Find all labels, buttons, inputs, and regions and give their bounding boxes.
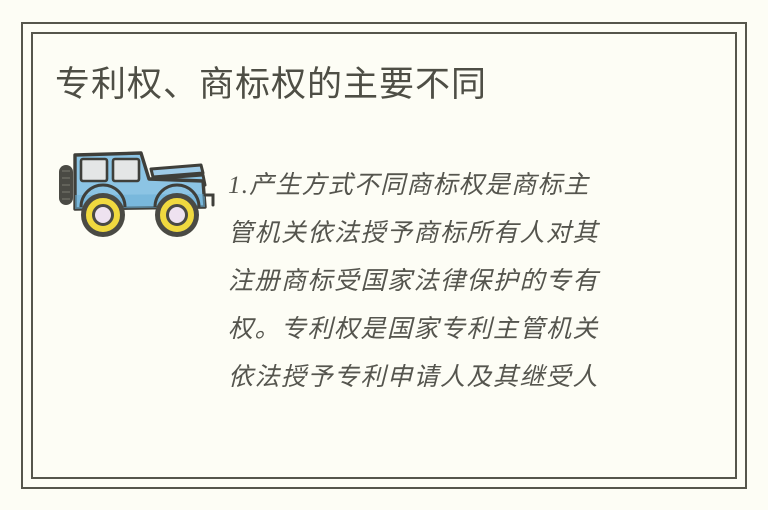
- body-paragraph: 1.产生方式不同商标权是商标主 管机关依法授予商标所有人对其 注册商标受国家法律…: [228, 162, 658, 402]
- page-title: 专利权、商标权的主要不同: [55, 62, 487, 108]
- front-wheel: [81, 193, 125, 237]
- front-window: [81, 159, 107, 181]
- body-line: 管机关依法授予商标所有人对其: [228, 210, 658, 258]
- body-line: 1.产生方式不同商标权是商标主: [228, 162, 658, 210]
- body-line: 注册商标受国家法律保护的专有: [228, 258, 658, 306]
- jeep-illustration: [53, 139, 223, 249]
- body-line: 权。专利权是国家专利主管机关: [228, 306, 658, 354]
- rear-wheel: [155, 193, 199, 237]
- rear-window: [113, 159, 139, 181]
- jeep-icon: [53, 139, 223, 249]
- article-card: 专利权、商标权的主要不同: [0, 0, 768, 510]
- body-line: 依法授予专利申请人及其继受人: [228, 354, 658, 402]
- card-content: 专利权、商标权的主要不同: [33, 34, 735, 477]
